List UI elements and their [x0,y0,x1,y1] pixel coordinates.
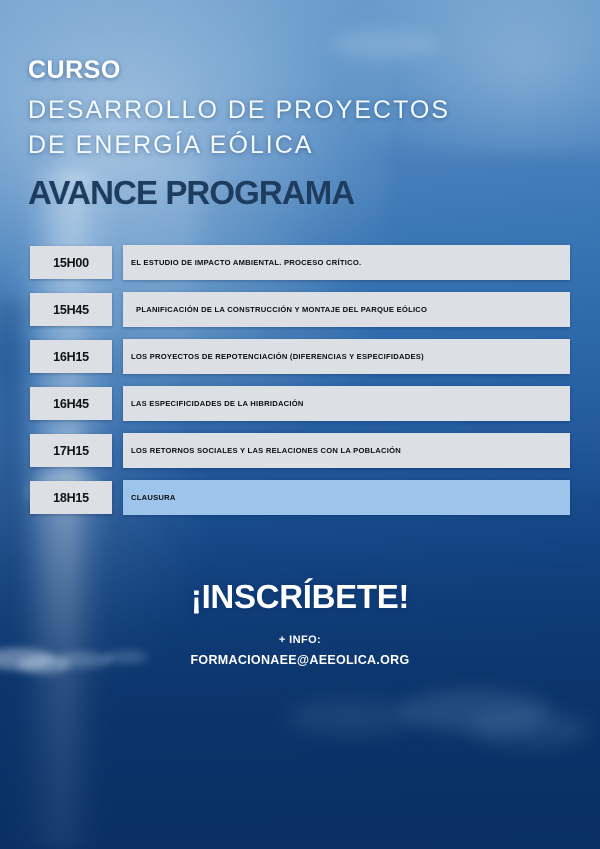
schedule-session-box-highlighted: CLAUSURA [123,480,570,515]
schedule-session-box: LOS RETORNOS SOCIALES Y LAS RELACIONES C… [123,433,570,468]
schedule-time-box: 16H45 [30,387,112,420]
schedule-session-box: PLANIFICACIÓN DE LA CONSTRUCCIÓN Y MONTA… [123,292,570,327]
schedule-time: 18H15 [53,491,89,505]
schedule-session-title: EL ESTUDIO DE IMPACTO AMBIENTAL. PROCESO… [123,258,361,267]
schedule-session-title: CLAUSURA [123,493,176,502]
schedule-list: 15H00 EL ESTUDIO DE IMPACTO AMBIENTAL. P… [0,245,600,527]
contact-email[interactable]: FORMACIONAEE@AEEOLICA.ORG [0,653,600,667]
schedule-session-box: LOS PROYECTOS DE REPOTENCIACIÓN (DIFEREN… [123,339,570,374]
schedule-time-box: 16H15 [30,340,112,373]
schedule-row: 18H15 CLAUSURA [0,480,600,515]
schedule-time: 16H15 [53,350,89,364]
call-to-action: ¡INSCRÍBETE! + INFO: FORMACIONAEE@AEEOLI… [0,580,600,667]
schedule-session-box: LAS ESPECIFICIDADES DE LA HIBRIDACIÓN [123,386,570,421]
schedule-time-box: 18H15 [30,481,112,514]
schedule-session-title: LOS PROYECTOS DE REPOTENCIACIÓN (DIFEREN… [123,352,424,361]
page-title: AVANCE PROGRAMA [28,176,450,209]
poster-header: CURSO DESARROLLO DE PROYECTOS DE ENERGÍA… [28,58,450,209]
cloud-icon [286,700,416,734]
schedule-time-box: 17H15 [30,434,112,467]
schedule-session-title: PLANIFICACIÓN DE LA CONSTRUCCIÓN Y MONTA… [123,305,427,314]
register-headline: ¡INSCRÍBETE! [0,580,600,613]
poster: CURSO DESARROLLO DE PROYECTOS DE ENERGÍA… [0,0,600,849]
more-info-label: + INFO: [0,634,600,646]
schedule-row: 17H15 LOS RETORNOS SOCIALES Y LAS RELACI… [0,433,600,468]
schedule-time-box: 15H45 [30,293,112,326]
course-title-line-1: DESARROLLO DE PROYECTOS [28,93,450,128]
schedule-session-title: LOS RETORNOS SOCIALES Y LAS RELACIONES C… [123,446,401,455]
course-kicker: CURSO [28,58,450,83]
course-title-line-2: DE ENERGÍA EÓLICA [28,128,450,163]
schedule-row: 15H45 PLANIFICACIÓN DE LA CONSTRUCCIÓN Y… [0,292,600,327]
schedule-time: 15H45 [53,303,89,317]
cloud-icon [330,30,440,58]
schedule-row: 16H45 LAS ESPECIFICIDADES DE LA HIBRIDAC… [0,386,600,421]
schedule-session-box: EL ESTUDIO DE IMPACTO AMBIENTAL. PROCESO… [123,245,570,280]
schedule-time-box: 15H00 [30,246,112,279]
cloud-icon [470,712,590,746]
schedule-time: 17H15 [53,444,89,458]
schedule-row: 16H15 LOS PROYECTOS DE REPOTENCIACIÓN (D… [0,339,600,374]
schedule-row: 15H00 EL ESTUDIO DE IMPACTO AMBIENTAL. P… [0,245,600,280]
schedule-time: 15H00 [53,256,89,270]
schedule-time: 16H45 [53,397,89,411]
schedule-session-title: LAS ESPECIFICIDADES DE LA HIBRIDACIÓN [123,399,304,408]
